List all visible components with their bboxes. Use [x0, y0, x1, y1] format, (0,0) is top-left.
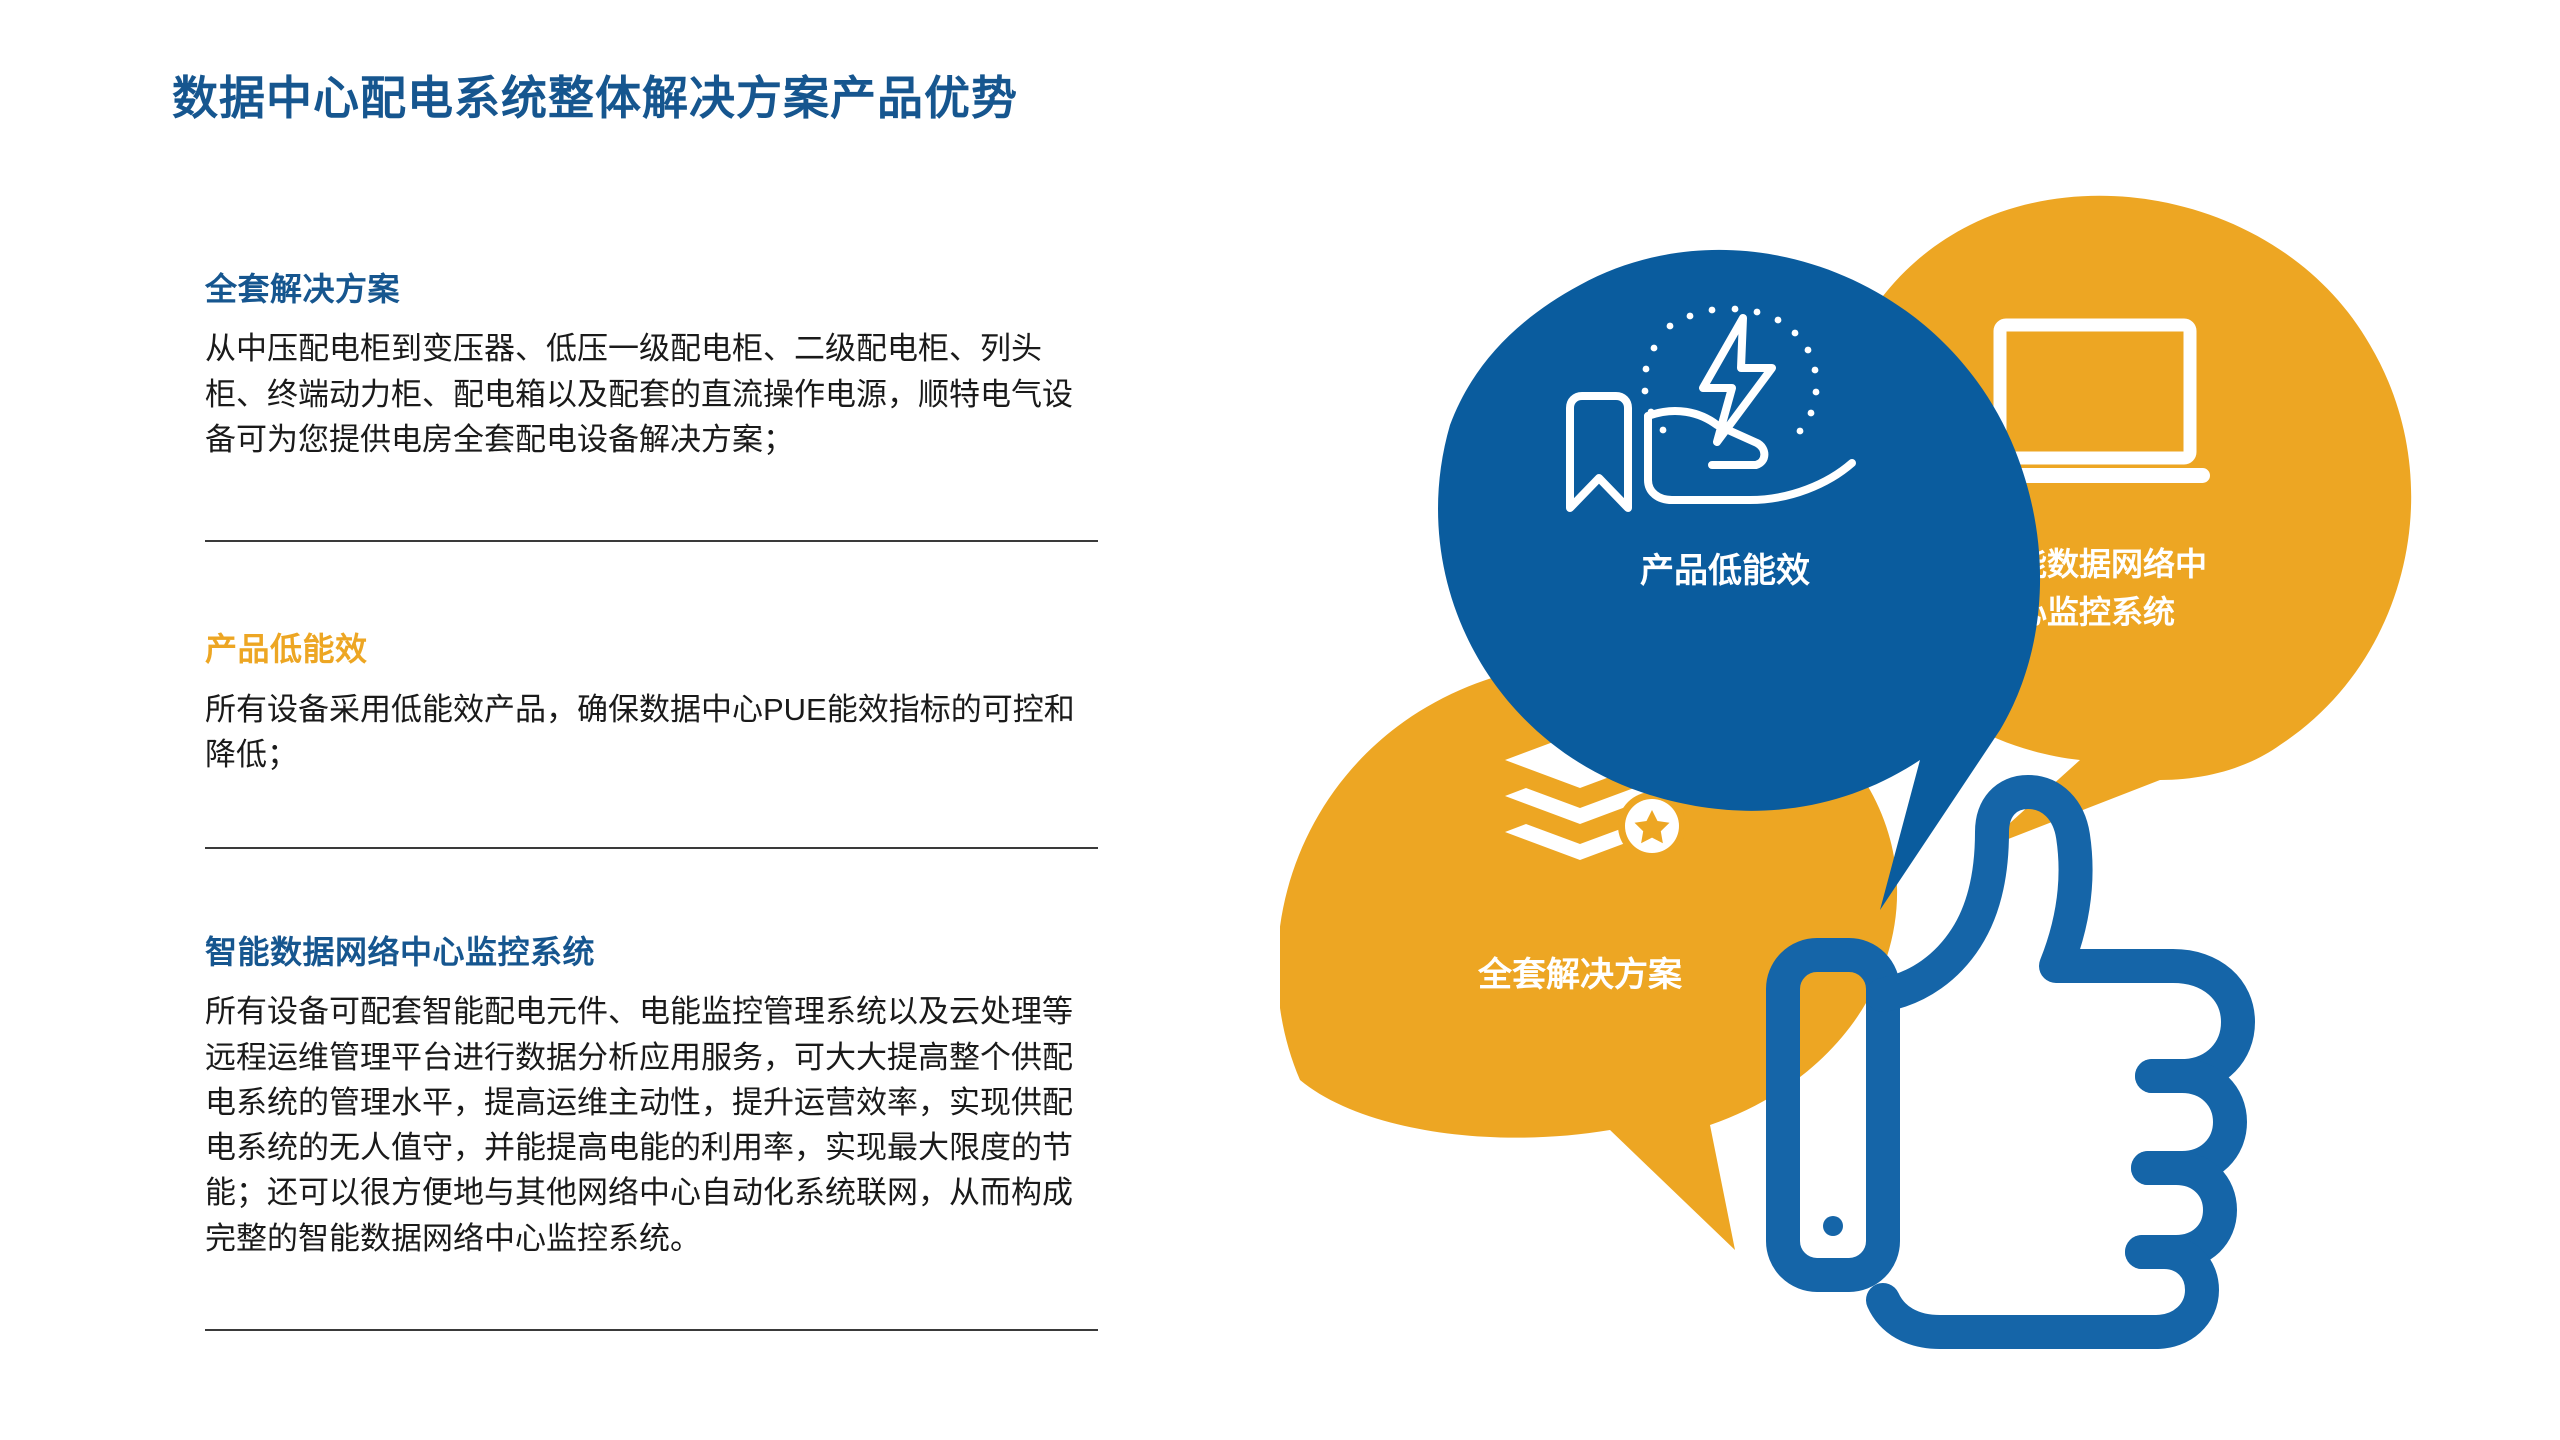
spacer [205, 462, 1098, 540]
section-body-low-energy: 所有设备采用低能效产品，确保数据中心PUE能效指标的可控和降低； [205, 687, 1098, 778]
section-heading-low-energy: 产品低能效 [205, 630, 1098, 668]
section-body-full-solution: 从中压配电柜到变压器、低压一级配电柜、二级配电柜、列头柜、终端动力柜、配电箱以及… [205, 326, 1098, 462]
slide-root: 数据中心配电系统整体解决方案产品优势 全套解决方案 从中压配电柜到变压器、低压一… [0, 0, 2560, 1440]
section-smart-monitoring: 智能数据网络中心监控系统 所有设备可配套智能配电元件、电能监控管理系统以及云处理… [205, 933, 1098, 1261]
section-heading-full-solution: 全套解决方案 [205, 270, 1098, 308]
thumbs-up-thumb [1883, 792, 2238, 1076]
thumbs-up-finger-3 [1883, 1252, 2202, 1332]
spacer [205, 777, 1098, 847]
section-body-smart-monitoring: 所有设备可配套智能配电元件、电能监控管理系统以及云处理等远程运维管理平台进行数据… [205, 989, 1098, 1261]
bubble-label-full-solution: 全套解决方案 [1477, 955, 1683, 994]
spacer [205, 542, 1098, 630]
section-low-energy: 产品低能效 所有设备采用低能效产品，确保数据中心PUE能效指标的可控和降低； [205, 630, 1098, 777]
spacer [205, 1261, 1098, 1329]
content-column: 全套解决方案 从中压配电柜到变压器、低压一级配电柜、二级配电柜、列头柜、终端动力… [205, 270, 1098, 1331]
section-heading-smart-monitoring: 智能数据网络中心监控系统 [205, 933, 1098, 971]
divider-3 [205, 1329, 1098, 1331]
page-title: 数据中心配电系统整体解决方案产品优势 [172, 62, 1018, 128]
thumbs-up-cuff-dot [1823, 1216, 1843, 1236]
speech-bubble-graphic: 全套解决方案 智能数据网络中 心监控系统 [1280, 120, 2460, 1350]
section-full-solution: 全套解决方案 从中压配电柜到变压器、低压一级配电柜、二级配电柜、列头柜、终端动力… [205, 270, 1098, 462]
spacer [205, 849, 1098, 933]
bubble-label-low-energy: 产品低能效 [1640, 552, 1810, 590]
